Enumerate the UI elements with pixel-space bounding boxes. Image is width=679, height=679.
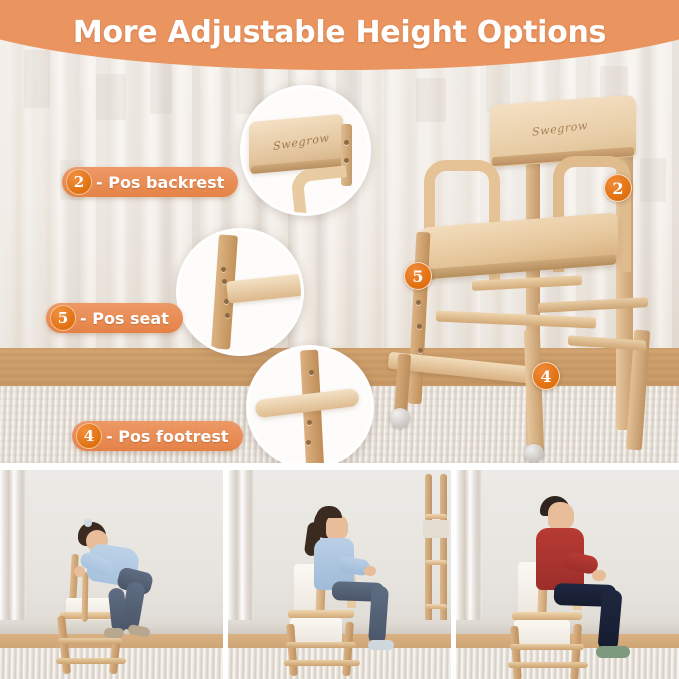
caster-front (524, 444, 544, 462)
product-badge-4: 4 (532, 362, 560, 390)
callout-seat: 5 - Pos seat (46, 303, 183, 333)
callout-label-seat: - Pos seat (80, 309, 169, 328)
page-title: More Adjustable Height Options (0, 0, 679, 64)
infographic-root: Swegrow (0, 0, 679, 679)
panel-toddler (0, 470, 223, 679)
callout-footrest: 4 - Pos footrest (72, 421, 243, 451)
callout-backrest: 2 - Pos backrest (62, 167, 238, 197)
callout-number-4: 4 (76, 423, 102, 449)
seat-adjust-rail (408, 232, 431, 404)
magnifier-seat (176, 228, 304, 356)
panel-child (228, 470, 451, 679)
callout-label-footrest: - Pos footrest (106, 427, 229, 446)
product-badge-5: 5 (404, 262, 432, 290)
magnifier-footrest (246, 345, 374, 463)
backrest-engraving: Swegrow (532, 119, 589, 139)
magnifier-backrest: Swegrow (240, 85, 371, 216)
product-badge-2: 2 (604, 174, 632, 202)
hero-product-scene: Swegrow (0, 0, 679, 463)
callout-number-5: 5 (50, 305, 76, 331)
lifestyle-panels (0, 463, 679, 679)
callout-label-backrest: - Pos backrest (96, 173, 224, 192)
panel2-shelf (423, 474, 449, 644)
caster-left (390, 408, 410, 428)
magnified-engraving: Swegrow (273, 131, 330, 153)
callout-number-2: 2 (66, 169, 92, 195)
panel-adult (456, 470, 679, 679)
magnified-seat-plate (226, 272, 301, 303)
